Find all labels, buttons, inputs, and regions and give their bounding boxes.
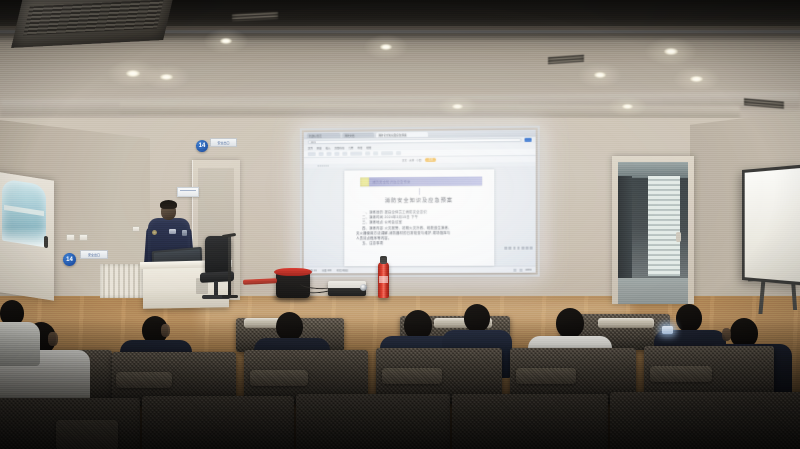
presenter-insignia bbox=[182, 230, 187, 236]
waste-bin-lid bbox=[274, 268, 312, 276]
sofa-seat-front bbox=[142, 396, 294, 449]
ceiling-downlight bbox=[126, 70, 140, 77]
mobile-phone[interactable] bbox=[662, 326, 673, 334]
audience-head bbox=[276, 312, 303, 341]
sofa-seat-front bbox=[452, 394, 608, 449]
sofa-armrest bbox=[382, 368, 442, 384]
wall-socket-left-2[interactable] bbox=[79, 234, 88, 241]
wall-socket-mid[interactable] bbox=[132, 226, 140, 232]
audience-head bbox=[676, 304, 702, 332]
audience-face bbox=[722, 328, 731, 341]
audience-head bbox=[464, 304, 490, 332]
projector-lens-icon bbox=[360, 284, 367, 291]
capacity-sign-left: 14 bbox=[63, 253, 76, 266]
ceiling-downlight bbox=[594, 72, 606, 78]
mic-stand-pole bbox=[228, 236, 231, 298]
presenter-shoulder-patch bbox=[152, 230, 157, 235]
ceiling-downlight bbox=[220, 38, 232, 44]
ceiling-downlight bbox=[664, 48, 678, 55]
projection-screen-frame bbox=[300, 126, 540, 278]
corridor-floor bbox=[618, 278, 688, 304]
ceiling-downlight bbox=[622, 104, 633, 109]
fire-extinguisher-valve bbox=[380, 256, 387, 264]
door-handle[interactable] bbox=[676, 232, 681, 242]
exit-sign-plate-right: 安全出口 bbox=[210, 138, 237, 147]
audience-face bbox=[48, 332, 58, 346]
sofa-armrest bbox=[516, 368, 576, 384]
sofa-armrest bbox=[116, 372, 172, 388]
sofa-armrest bbox=[650, 366, 712, 382]
presenter-name-badge bbox=[169, 229, 176, 234]
ceiling-downlight bbox=[452, 104, 463, 109]
window-handle[interactable] bbox=[44, 236, 48, 249]
coffee-table bbox=[56, 420, 118, 449]
ceiling-downlight bbox=[690, 76, 703, 82]
screenshot-root: 14 安全出口 14 安全出口 新建标签页 消防文档 消防安全知识及应急预案 d… bbox=[0, 0, 800, 449]
ceiling-air-duct bbox=[11, 0, 175, 48]
sofa-seat-front bbox=[296, 394, 450, 449]
sofa-cushion bbox=[598, 318, 654, 328]
whiteboard[interactable] bbox=[742, 165, 800, 286]
mic-stand-base bbox=[222, 295, 238, 298]
audience-face bbox=[161, 324, 170, 337]
exit-sign-plate-left: 安全出口 bbox=[80, 250, 108, 259]
window-blinds bbox=[648, 176, 680, 276]
presenter-hair bbox=[160, 200, 177, 209]
wall-socket-left[interactable] bbox=[66, 234, 75, 241]
audience-torso bbox=[0, 322, 40, 366]
capacity-sign-right: 14 bbox=[196, 140, 208, 152]
fire-extinguisher-label bbox=[379, 276, 388, 283]
sofa-armrest bbox=[250, 370, 308, 386]
ceiling-downlight bbox=[160, 74, 173, 80]
wall-notice-board bbox=[177, 187, 199, 197]
audience-head bbox=[556, 308, 584, 338]
sofa-seat-front bbox=[610, 392, 800, 449]
ceiling-downlight bbox=[380, 44, 392, 50]
